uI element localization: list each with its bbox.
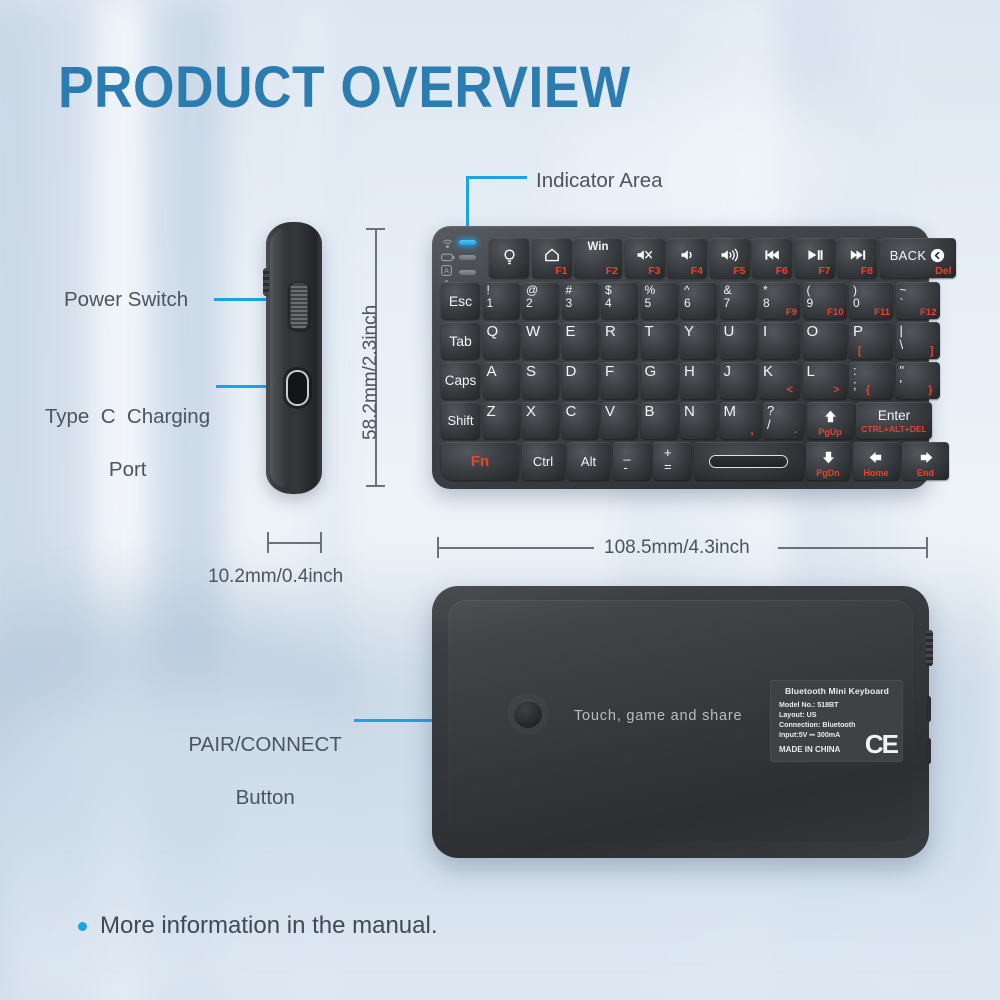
key-quote-brace: } [928,385,932,396]
key-5-top: % [645,284,656,297]
prev-track-icon [764,249,781,261]
key-z[interactable]: Z [483,402,520,439]
key-alt-label: Alt [581,455,596,468]
footer-note: More information in the manual. [78,912,438,940]
keyboard-top-view: A [432,226,929,489]
dim-width-line-right [778,547,928,549]
key-f1-home[interactable]: F1 [532,238,572,278]
key-0[interactable]: )0 F11 [849,282,893,319]
key-r[interactable]: R [601,322,638,359]
keyboard-row-shift: Shift Z X C V B N M , ?/ . PgUp [441,402,932,439]
key-9-bottom: 9 [807,297,814,310]
key-2-top: @ [526,284,538,297]
back-side-cut-2 [926,738,931,764]
key-4-bottom: 4 [605,297,612,310]
callout-indicator-area-leader-h [467,176,527,179]
key-pgdn-label: PgDn [806,469,850,478]
key-g[interactable]: G [641,362,678,399]
key-tab-label: Tab [449,334,472,348]
key-3-bottom: 3 [566,297,573,310]
touch-game-share-text: Touch, game and share [574,708,742,724]
dim-height-label: 58.2mm/2.3inch [360,305,382,440]
back-side-cut-1 [926,696,931,722]
key-h[interactable]: H [680,362,717,399]
svg-text:A: A [444,268,449,275]
pair-connect-button[interactable] [514,700,542,728]
dim-height-cap-bottom [366,485,385,487]
device-back-view: Touch, game and share Bluetooth Mini Key… [432,586,929,858]
usb-c-charging-port [286,370,309,406]
key-2[interactable]: @2 [522,282,559,319]
key-grave-bottom: ` [900,297,904,310]
wireless-icon [441,239,455,250]
footer-text: More information in the manual. [100,912,438,940]
key-ctrl-label: Ctrl [533,455,553,468]
key-7-top: & [724,284,732,297]
capslock-icon: A [441,265,455,276]
callout-charging-port-line2: Port [109,458,147,481]
keyboard-row-bottom: Fn Ctrl Alt _- += PgDn [441,442,949,480]
page-title: PRODUCT OVERVIEW [58,54,631,121]
dim-thickness-cap-right [320,532,322,553]
ce-mark-icon: CE [865,731,897,757]
key-8-bottom: 8 [763,297,770,310]
volume-down-icon [680,248,695,262]
key-f3-label: F3 [648,266,660,277]
key-grave-top: ~ [900,284,907,297]
key-equals[interactable]: += [653,442,691,480]
key-c[interactable]: C [562,402,599,439]
key-tab[interactable]: Tab [441,322,480,359]
key-shift-label: Shift [447,414,473,427]
key-arrow-down[interactable]: PgDn [806,442,850,480]
callout-pair-line2: Button [236,786,295,809]
key-u[interactable]: U [720,322,757,359]
key-win-label: Win [574,241,622,253]
key-s[interactable]: S [522,362,559,399]
key-fn[interactable]: Fn [441,442,519,480]
key-f[interactable]: F [601,362,638,399]
arrow-down-icon [821,450,836,465]
key-o[interactable]: O [803,322,847,359]
key-enter-sublabel: CTRL+ALT+DEL [861,424,926,434]
callout-indicator-area-label: Indicator Area [536,168,663,194]
key-fn-label: Fn [471,454,489,469]
key-arrow-left[interactable]: Home [853,442,900,480]
dim-thickness-cap-left [267,532,269,553]
key-d[interactable]: D [562,362,599,399]
arrow-right-icon [918,450,934,465]
key-9[interactable]: (9 F10 [803,282,847,319]
led-battery [459,255,476,260]
key-0-bottom: 0 [853,297,860,310]
dim-thickness-line [267,542,321,544]
arrow-left-icon [868,450,884,465]
key-a[interactable]: A [483,362,520,399]
key-del-label: Del [935,266,951,277]
key-b[interactable]: B [641,402,678,439]
product-label-model: Model No.: 518BT [779,700,895,710]
key-esc[interactable]: Esc [441,282,480,319]
key-backslash[interactable]: |\ ] [896,322,940,359]
product-label-title: Bluetooth Mini Keyboard [779,686,895,696]
key-2-bottom: 2 [526,297,533,310]
dim-width-cap-left [437,537,439,558]
key-space[interactable] [694,442,804,480]
keyboard-row-qwerty: Tab Q W E R T Y U I O P [ |\ ] [441,322,940,359]
led-capslock [459,270,476,275]
key-w[interactable]: W [522,322,559,359]
key-j[interactable]: J [720,362,757,399]
product-label: Bluetooth Mini Keyboard Model No.: 518BT… [770,680,903,762]
key-f7-play-pause[interactable]: F7 [795,238,835,278]
key-f9-label: F9 [786,308,797,318]
key-f3-mute[interactable]: F3 [625,238,665,278]
key-f2-win[interactable]: Win F2 [574,238,622,278]
key-q[interactable]: Q [483,322,520,359]
spacebar-indicator [709,455,788,468]
dim-height-cap-top [366,228,385,230]
key-5-bottom: 5 [645,297,652,310]
key-7[interactable]: &7 [720,282,757,319]
keyboard-row-number: Esc !1 @2 #3 $4 %5 ^6 &7 [441,282,940,319]
key-end-label: End [902,469,949,478]
key-7-bottom: 7 [724,297,731,310]
key-x[interactable]: X [522,402,559,439]
key-f12-label: F12 [920,308,936,318]
key-caps-label: Caps [445,374,477,388]
key-1-top: ! [487,284,490,297]
key-8-top: * [763,284,768,297]
key-5[interactable]: %5 [641,282,678,319]
dim-width-line-left [437,547,594,549]
mute-icon [636,248,653,262]
key-1-bottom: 1 [487,297,494,310]
callout-pair-button-label: PAIR/CONNECT Button [172,706,347,811]
key-semicolon[interactable]: :; { [849,362,893,399]
key-caps[interactable]: Caps [441,362,480,399]
key-f1-label: F1 [555,266,567,277]
key-f6-label: F6 [776,266,788,277]
side-top-nub [263,268,269,296]
key-esc-label: Esc [449,294,472,308]
key-grave[interactable]: ~` F12 [896,282,940,319]
lightbulb-icon [503,249,516,267]
key-f5-label: F5 [733,266,745,277]
key-f8-label: F8 [861,266,873,277]
key-p-bracket: [ [858,346,862,357]
back-arrow-icon [930,248,945,263]
key-3[interactable]: #3 [562,282,599,319]
key-minus[interactable]: _- [613,442,651,480]
battery-icon [441,253,455,262]
key-4[interactable]: $4 [601,282,638,319]
play-pause-icon [807,249,823,261]
key-l-angle: > [833,385,839,396]
key-6-bottom: 6 [684,297,691,310]
key-f4-volume-down[interactable]: F4 [667,238,707,278]
key-0-top: ) [853,284,857,297]
led-wireless [459,240,476,245]
key-n[interactable]: N [680,402,717,439]
key-arrow-right[interactable]: End [902,442,949,480]
key-9-top: ( [807,284,811,297]
key-f10-label: F10 [827,308,843,318]
key-m[interactable]: M , [720,402,761,439]
key-f8-next-track[interactable]: F8 [837,238,877,278]
key-pgup-label: PgUp [807,428,854,437]
home-icon [544,248,560,262]
key-enter-label: Enter [878,408,910,423]
key-slash-period: . [794,425,797,436]
key-y[interactable]: Y [680,322,717,359]
key-f11-label: F11 [874,308,890,318]
key-semicolon-brace: { [866,385,870,396]
key-back-label: BACK [890,248,927,263]
key-light[interactable] [489,238,529,278]
key-k-angle: < [787,385,793,396]
key-shift[interactable]: Shift [441,402,480,439]
arrow-up-icon [823,409,838,424]
key-k[interactable]: K < [759,362,800,399]
callout-charging-port-label: Type C Charging Port [32,378,212,483]
key-6-top: ^ [684,284,690,297]
dim-thickness-label: 10.2mm/0.4inch [208,566,343,588]
key-m-comma: , [750,426,753,437]
dim-width-cap-right [926,537,928,558]
key-v[interactable]: V [601,402,638,439]
key-t[interactable]: T [641,322,678,359]
key-8[interactable]: *8 F9 [759,282,800,319]
key-f6-prev-track[interactable]: F6 [752,238,792,278]
callout-power-switch-label: Power Switch [64,287,188,313]
key-e[interactable]: E [562,322,599,359]
key-ctrl[interactable]: Ctrl [522,442,565,480]
keyboard-row-home: Caps A S D F G H J K < L > :; { "' } [441,362,940,399]
key-f5-volume-up[interactable]: F5 [710,238,750,278]
key-backslash-bracket: ] [930,346,934,357]
next-track-icon [849,249,866,261]
key-arrow-up[interactable]: PgUp [807,402,854,439]
key-slash[interactable]: ?/ . [763,402,804,439]
key-back-delete[interactable]: BACK Del [880,238,956,278]
footer-bullet-icon [78,922,87,931]
product-label-layout: Layout: US [779,710,895,720]
key-i[interactable]: I [759,322,800,359]
key-f4-label: F4 [691,266,703,277]
device-side-view [266,222,322,494]
back-right-nub [926,630,933,666]
key-f7-label: F7 [818,266,830,277]
key-6[interactable]: ^6 [680,282,717,319]
key-p[interactable]: P [ [849,322,893,359]
key-l[interactable]: L > [803,362,847,399]
key-4-top: $ [605,284,612,297]
key-quote[interactable]: "' } [896,362,940,399]
key-home-label: Home [853,469,900,478]
volume-up-icon [720,248,739,262]
power-switch-slider[interactable] [289,282,309,330]
key-enter[interactable]: Enter CTRL+ALT+DEL [856,402,932,439]
key-1[interactable]: !1 [483,282,520,319]
key-alt[interactable]: Alt [567,442,610,480]
dim-width-label: 108.5mm/4.3inch [604,537,750,559]
callout-pair-line1: PAIR/CONNECT [189,733,342,756]
callout-charging-port-line1: Type C Charging [45,405,210,428]
key-f2-label: F2 [606,266,618,277]
keyboard-row-function: F1 Win F2 F3 F4 F [489,238,956,278]
key-3-top: # [566,284,573,297]
